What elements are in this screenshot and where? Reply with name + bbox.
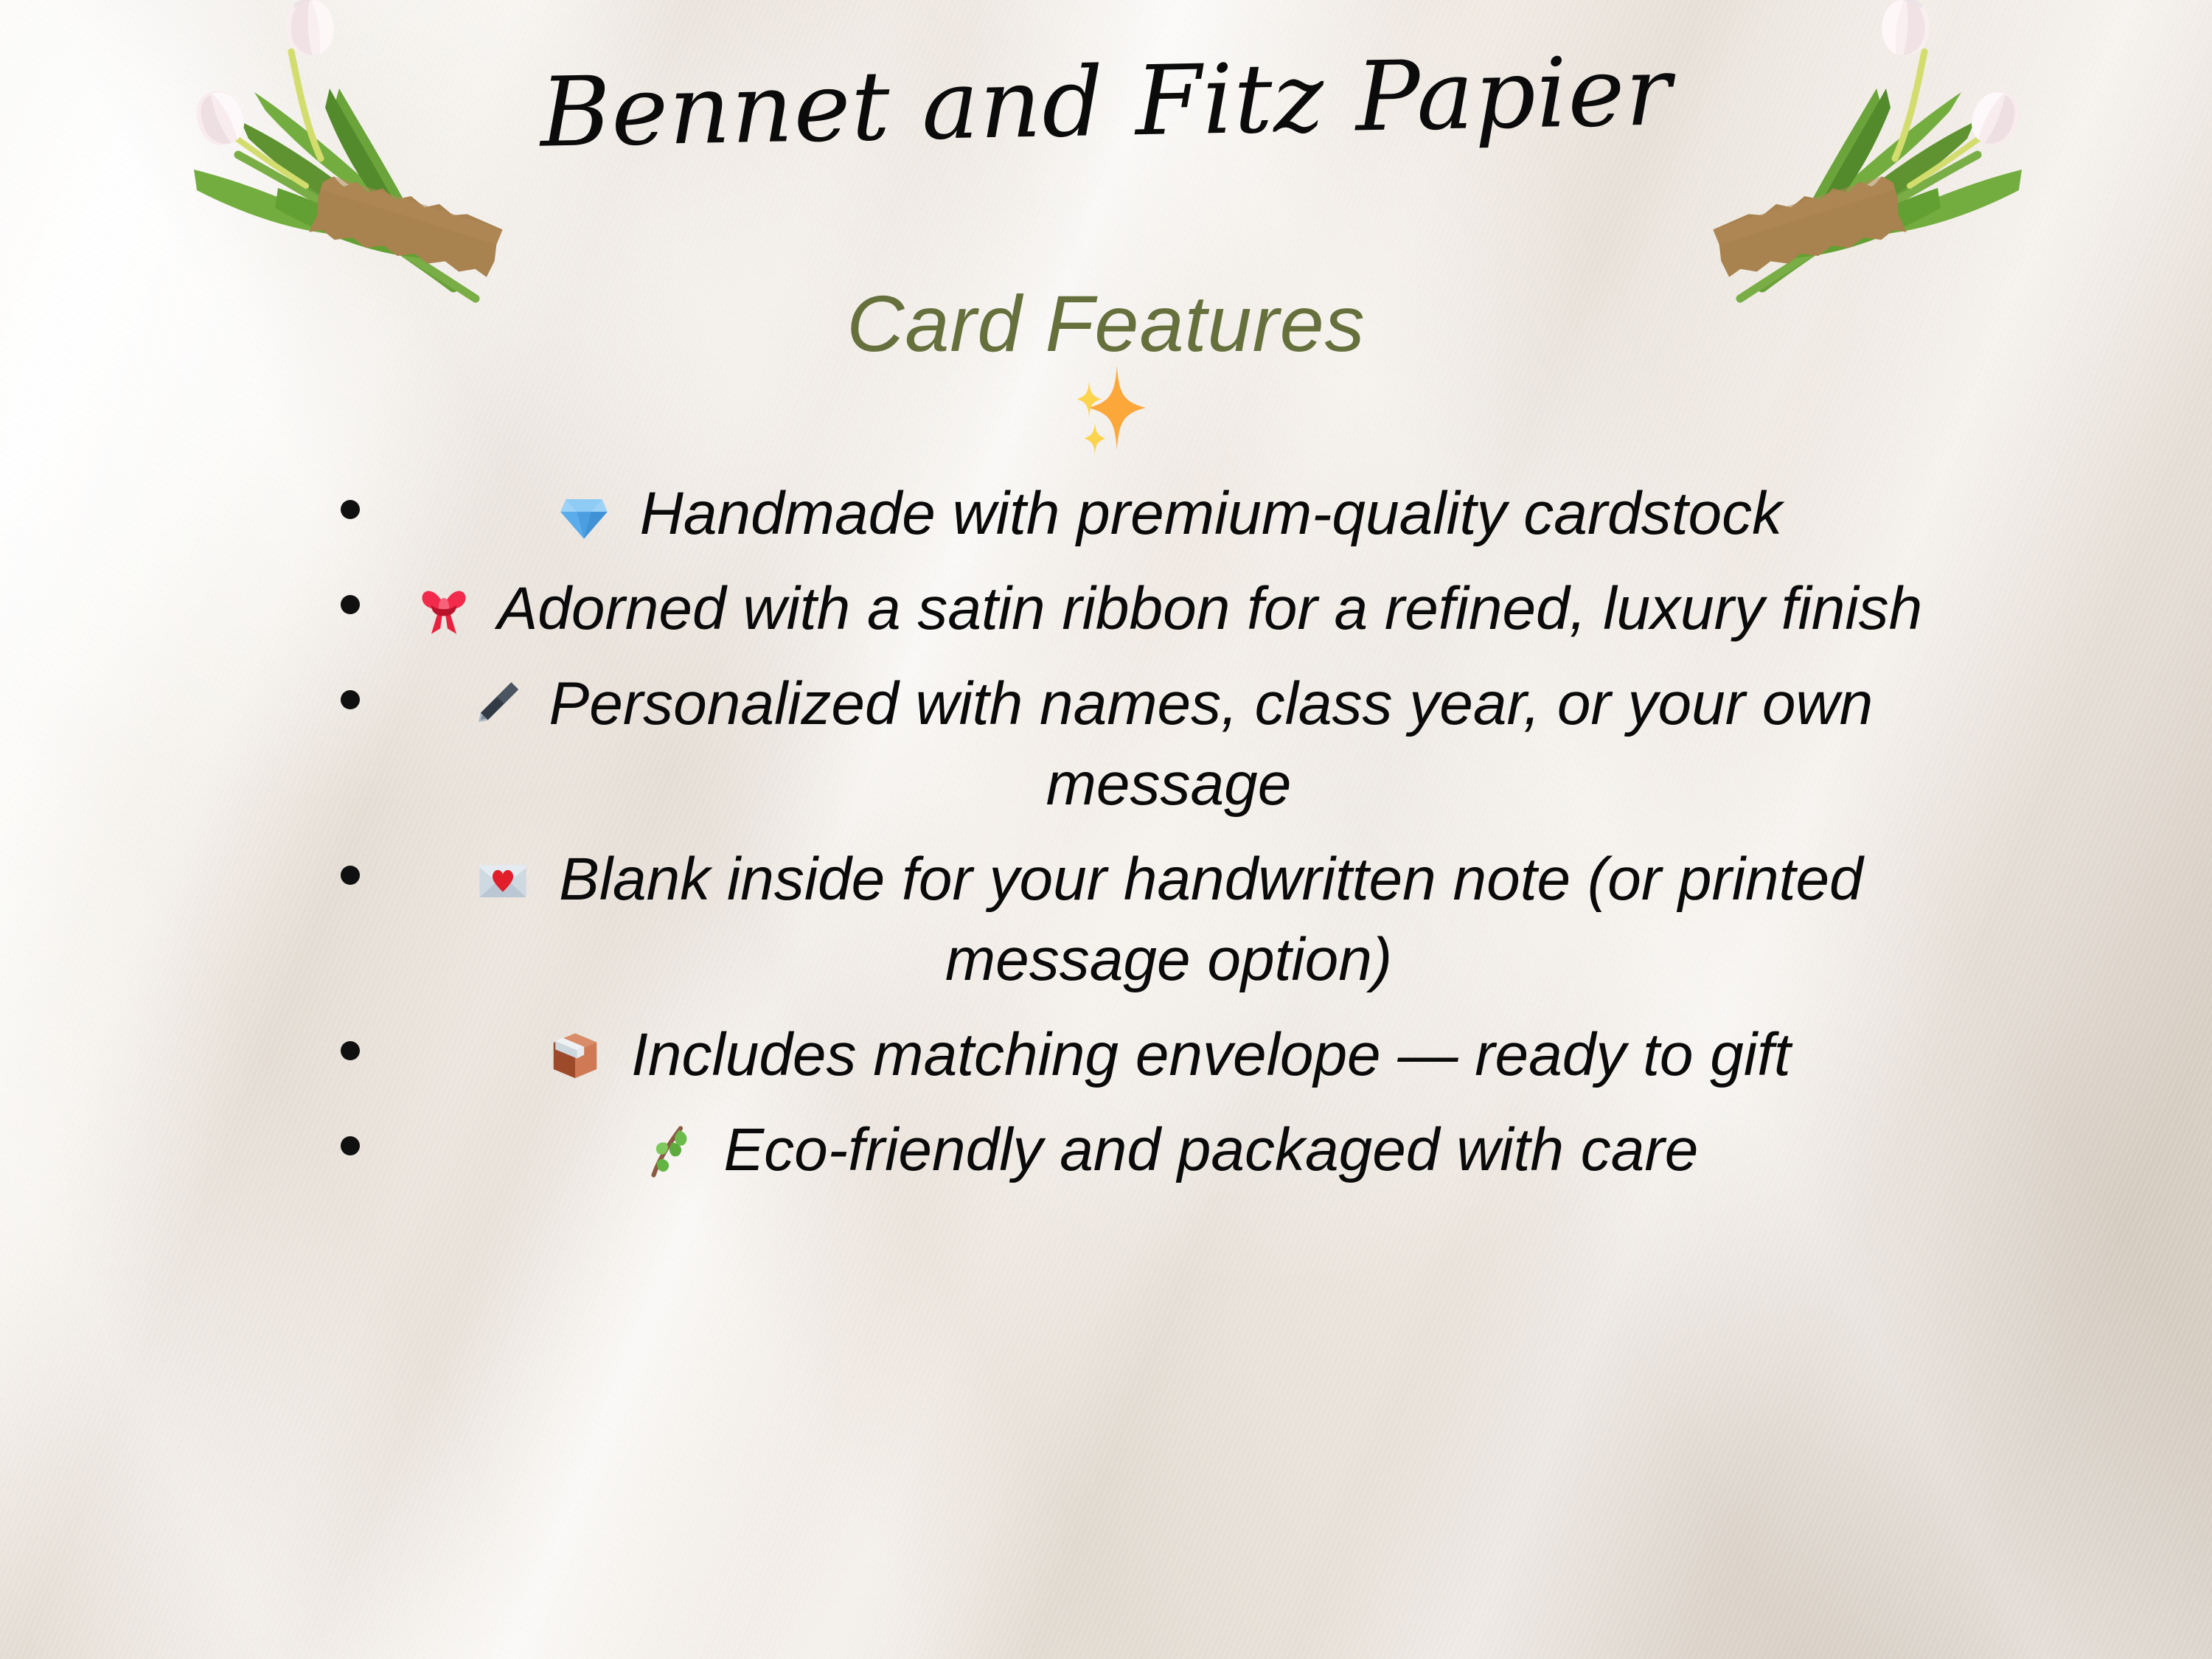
feature-item: Includes matching envelope — ready to gi… xyxy=(280,1015,1991,1095)
herb-icon xyxy=(639,1123,697,1180)
bullet-point xyxy=(341,1041,360,1060)
bullet-point xyxy=(341,1136,360,1155)
feature-text: Includes matching envelope — ready to gi… xyxy=(631,1021,1791,1088)
bullet-point xyxy=(341,690,360,709)
feature-item: Eco-friendly and packaged with care xyxy=(280,1110,1991,1190)
sparkles-icon xyxy=(1063,360,1159,456)
section-title: Card Features xyxy=(0,284,2212,364)
love-letter-icon xyxy=(474,852,532,910)
bullet-point xyxy=(341,595,360,614)
feature-item: Adorned with a satin ribbon for a refine… xyxy=(280,568,1991,649)
feature-text: Adorned with a satin ribbon for a refine… xyxy=(498,575,1923,642)
feature-text: Eco-friendly and packaged with care xyxy=(723,1116,1698,1183)
ribbon-icon xyxy=(415,582,473,639)
feature-item: Personalized with names, class year, or … xyxy=(280,664,1991,824)
fountain-pen-icon xyxy=(465,677,522,734)
feature-text: Handmade with premium-quality cardstock xyxy=(640,480,1783,547)
bullet-point xyxy=(341,866,360,885)
bullet-point xyxy=(341,500,360,519)
package-icon xyxy=(546,1028,604,1085)
feature-item: Handmade with premium-quality cardstock xyxy=(280,473,1991,554)
card-features-list: Handmade with premium-quality cardstock … xyxy=(280,473,1991,1205)
feature-text: Personalized with names, class year, or … xyxy=(549,670,1874,818)
flyer-canvas: Bennet and Fitz Papier Card Features xyxy=(0,0,2212,1659)
feature-item: Blank inside for your handwritten note (… xyxy=(280,839,1991,1000)
feature-text: Blank inside for your handwritten note (… xyxy=(559,846,1863,993)
gem-stone-icon xyxy=(555,487,613,544)
